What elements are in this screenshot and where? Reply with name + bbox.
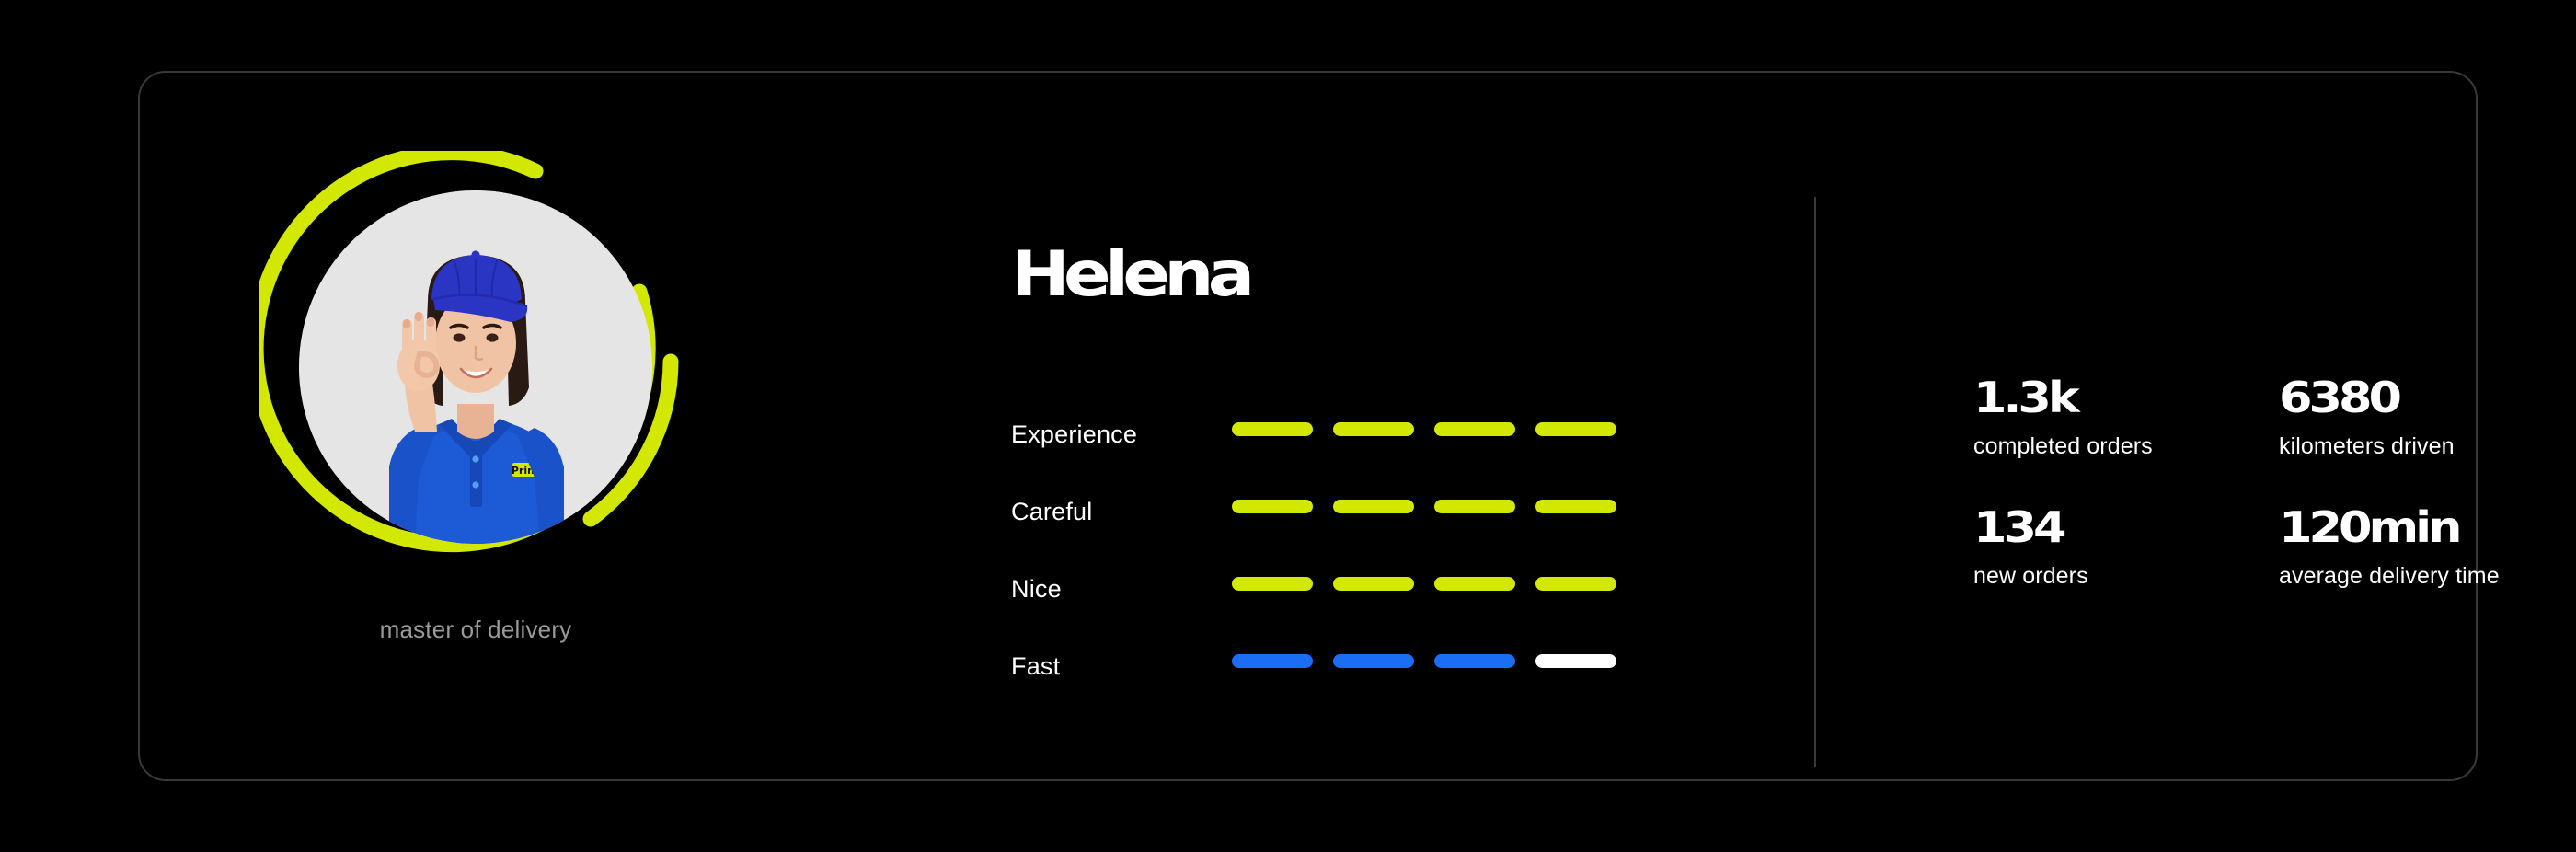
skill-pip[interactable] — [1333, 654, 1414, 668]
stat-card-kilometers-driven: 6380 kilometers driven — [2279, 376, 2544, 460]
skill-pip[interactable] — [1333, 577, 1414, 591]
stat-label: completed orders — [1973, 433, 2279, 460]
skill-pip[interactable] — [1535, 500, 1616, 513]
skill-pip[interactable] — [1333, 500, 1414, 513]
skill-rating-pips[interactable] — [1232, 500, 1616, 513]
skill-label: Experience — [1011, 420, 1137, 449]
stat-card-new-orders: 134 new orders — [1973, 506, 2279, 590]
delivery-person-photo-icon: Prime — [299, 190, 652, 544]
skill-label: Nice — [1011, 575, 1062, 604]
page-title: Helena — [1011, 244, 1248, 306]
skill-pip[interactable] — [1434, 577, 1515, 591]
skill-pip[interactable] — [1535, 422, 1616, 436]
skill-pip[interactable] — [1232, 577, 1313, 591]
skill-label: Fast — [1011, 652, 1060, 681]
skill-row: Careful — [1011, 496, 1637, 573]
avatar-block: Prime — [259, 151, 692, 703]
skill-rating-pips[interactable] — [1232, 422, 1616, 436]
skill-pip[interactable] — [1535, 654, 1616, 668]
skill-pip[interactable] — [1232, 654, 1313, 668]
stat-label: average delivery time — [2279, 563, 2544, 590]
stat-value: 1.3k — [1973, 376, 2321, 419]
skill-pip[interactable] — [1333, 422, 1414, 436]
avatar-caption: master of delivery — [259, 616, 692, 644]
skill-row: Experience — [1011, 419, 1637, 496]
stat-value: 120min — [2279, 506, 2576, 548]
skill-row: Nice — [1011, 573, 1637, 651]
skill-pip[interactable] — [1535, 577, 1616, 591]
skill-pip[interactable] — [1434, 654, 1515, 668]
stats-grid: 1.3k completed orders 6380 kilometers dr… — [1973, 376, 2544, 590]
stat-card-completed-orders: 1.3k completed orders — [1973, 376, 2279, 460]
skill-pip[interactable] — [1434, 422, 1515, 436]
profile-card: Prime — [138, 71, 2478, 781]
stat-card-average-delivery-time: 120min average delivery time — [2279, 506, 2544, 590]
skill-rating-pips[interactable] — [1232, 577, 1616, 591]
stat-label: new orders — [1973, 563, 2279, 590]
skill-label: Careful — [1011, 498, 1092, 526]
skill-rating-pips[interactable] — [1232, 654, 1616, 668]
stat-value: 134 — [1973, 506, 2321, 548]
skill-pip[interactable] — [1232, 422, 1313, 436]
stat-value: 6380 — [2279, 376, 2576, 419]
vertical-divider — [1814, 197, 1816, 767]
skill-pip[interactable] — [1434, 500, 1515, 513]
skill-pip[interactable] — [1232, 500, 1313, 513]
skill-row: Fast — [1011, 651, 1637, 728]
skill-rating-list: Experience Careful Nice — [1011, 419, 1637, 728]
stat-label: kilometers driven — [2279, 433, 2544, 460]
